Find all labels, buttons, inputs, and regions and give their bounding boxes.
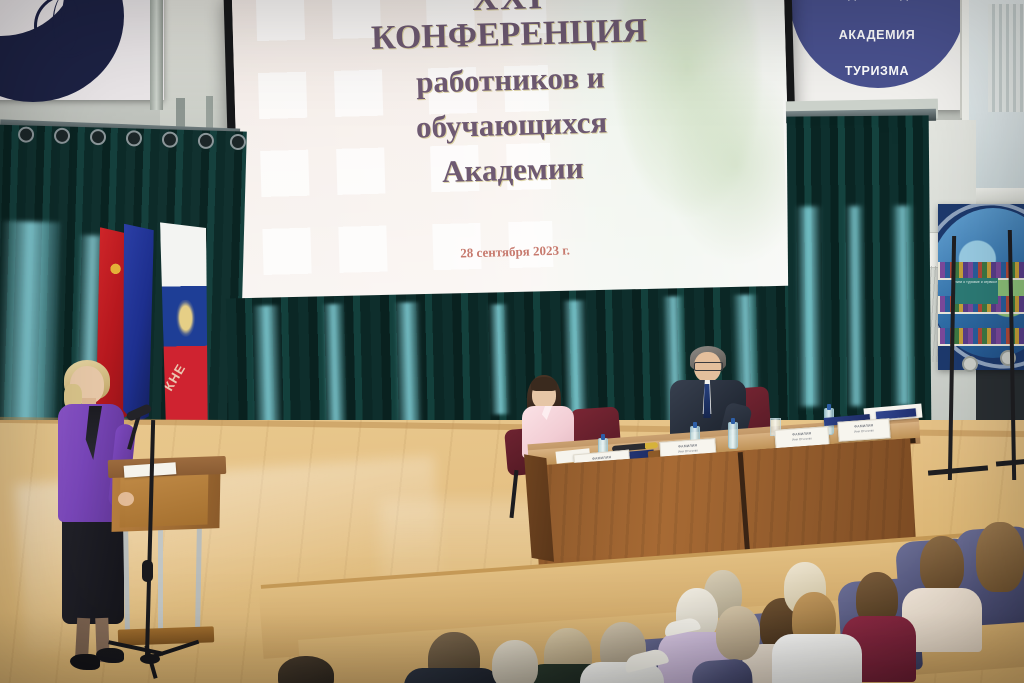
tourism-banner-line1: МЕЖДУНАРОДНАЯ bbox=[792, 0, 962, 1]
tourism-banner-line3: ТУРИЗМА bbox=[792, 64, 962, 78]
flag-inscription: КНЕ bbox=[161, 357, 211, 406]
podium-leg-2 bbox=[158, 526, 163, 634]
audience-person-9-hair bbox=[716, 606, 760, 660]
tourism-banner-line2: АКАДЕМИЯ bbox=[792, 28, 962, 42]
speaker-hand bbox=[118, 492, 134, 506]
audience-person-7-shirt bbox=[772, 634, 862, 683]
academy-emblem-banner bbox=[0, 0, 164, 100]
banner-frame-left bbox=[150, 0, 163, 110]
double-eagle-icon bbox=[174, 300, 197, 340]
window-backlight-right-2 bbox=[845, 206, 865, 406]
russian-tricolor-flag: КНЕ bbox=[160, 222, 210, 437]
microphone-tripod-hub bbox=[140, 654, 160, 664]
tourism-academy-banner: МЕЖДУНАРОДНАЯ АКАДЕМИЯ ТУРИЗМА bbox=[792, 0, 962, 110]
stage-backlight-4 bbox=[488, 304, 510, 414]
flag-emblem-icon bbox=[107, 260, 124, 279]
stage-backlight-1 bbox=[252, 305, 283, 436]
audience-person-1-hair bbox=[920, 536, 964, 594]
microphone-stand-clamp bbox=[142, 560, 153, 582]
projection-screen: XXI КОНФЕРЕНЦИЯ работников и обучающихся… bbox=[232, 0, 793, 308]
stage-backlight-2 bbox=[322, 304, 347, 434]
speaker-shoe-right bbox=[96, 648, 124, 663]
cart-wheel-left bbox=[962, 356, 978, 372]
name-card-4: ФАМИЛИЯ Имя Отчество bbox=[837, 418, 890, 442]
window-backlight-right-3 bbox=[891, 206, 915, 406]
curtain-right bbox=[787, 115, 932, 426]
audience-person-12-body bbox=[404, 668, 500, 683]
eyeglasses-icon bbox=[694, 362, 723, 371]
stage-backlight-5 bbox=[562, 300, 589, 419]
stage-backlight-3 bbox=[394, 302, 423, 433]
water-bottle-3 bbox=[728, 422, 738, 449]
vertical-blinds bbox=[988, 4, 1024, 112]
blue-flag bbox=[121, 224, 154, 424]
audience-person-13-hair bbox=[492, 640, 538, 683]
audience-person-2-hair bbox=[976, 522, 1024, 592]
book-rack-label: Книги о туризме и сервисе bbox=[952, 278, 998, 304]
window-backlight-right-1 bbox=[795, 206, 823, 406]
podium-base bbox=[118, 626, 214, 645]
seated-woman-fringe bbox=[531, 377, 557, 391]
conference-photo: МЕЖДУНАРОДНАЯ АКАДЕМИЯ ТУРИЗМА XXI КОНФЕ… bbox=[0, 0, 1024, 683]
